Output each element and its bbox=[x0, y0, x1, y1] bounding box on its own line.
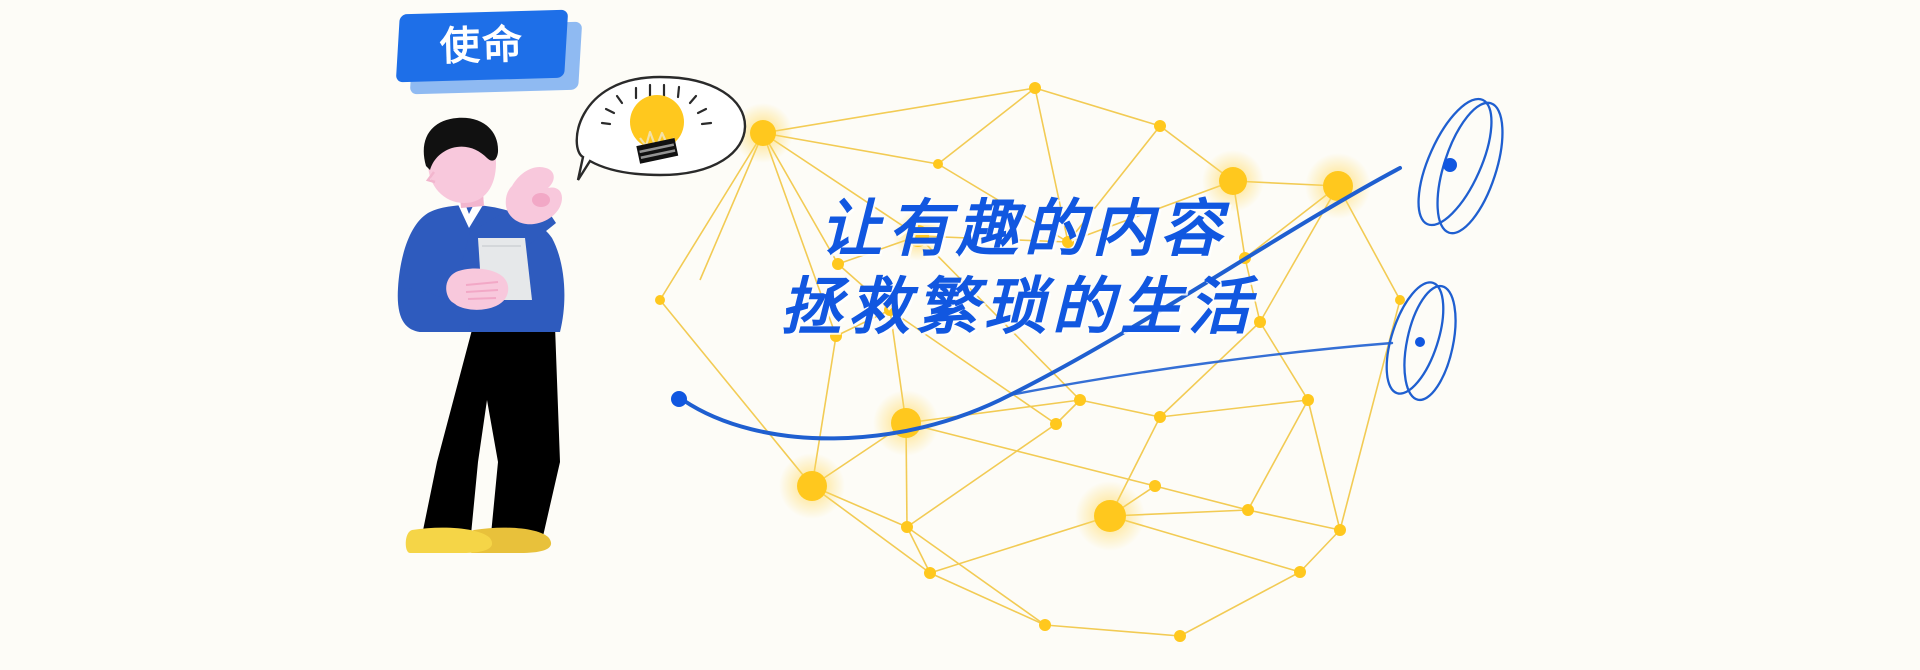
trousers bbox=[420, 326, 560, 545]
mission-banner: 使命 让有趣的内容 拯救繁琐的生活 bbox=[0, 0, 1920, 670]
pointing-hand bbox=[506, 167, 562, 224]
thumb-detail bbox=[532, 193, 550, 207]
pointing-person-illustration bbox=[0, 0, 1920, 670]
holding-hand bbox=[446, 269, 508, 310]
lightbulb-speech-bubble bbox=[577, 77, 745, 180]
lightbulb-icon bbox=[630, 95, 684, 149]
